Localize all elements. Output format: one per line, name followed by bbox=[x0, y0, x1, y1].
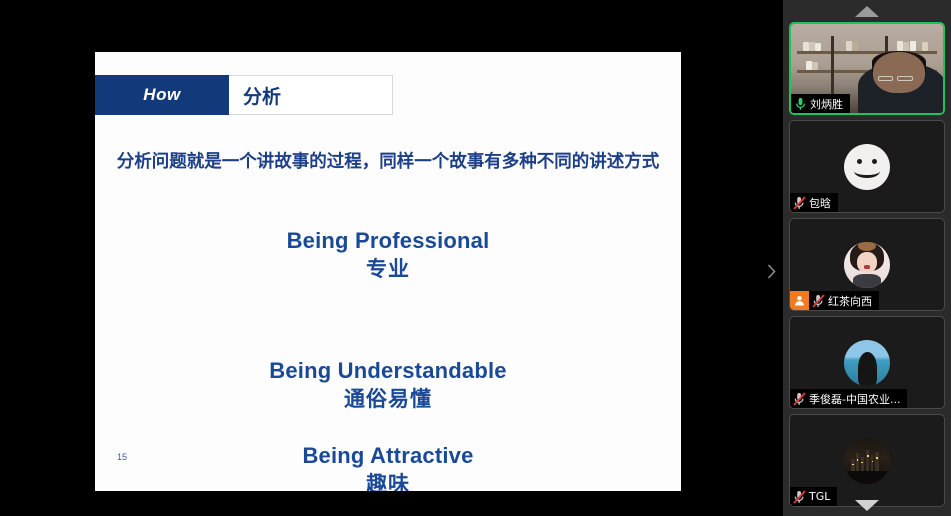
participant-sidebar: 刘炳胜 bbox=[783, 0, 951, 516]
slide-point-2-en: Being Understandable bbox=[95, 357, 681, 385]
participant-tile[interactable]: 季俊磊-中国农业... bbox=[789, 316, 945, 409]
participant-tile[interactable]: 红茶向西 bbox=[789, 218, 945, 311]
person-badge-icon bbox=[790, 291, 809, 310]
portrait-avatar-icon bbox=[844, 242, 890, 288]
microphone-muted-icon bbox=[809, 291, 827, 310]
slide-header-tab-label: How bbox=[143, 85, 180, 105]
slide-point-3-cn: 趣味 bbox=[95, 470, 681, 491]
slide-header: How 分析 bbox=[95, 75, 393, 115]
participant-name: 包晗 bbox=[808, 195, 838, 211]
slide-point-3-en: Being Attractive bbox=[95, 442, 681, 470]
slide-header-tab-how: How bbox=[95, 75, 229, 115]
presentation-slide: How 分析 分析问题就是一个讲故事的过程，同样一个故事有多种不同的讲述方式 B… bbox=[95, 52, 681, 491]
cityscape-avatar-icon bbox=[844, 438, 890, 484]
slide-point-2-cn: 通俗易懂 bbox=[95, 385, 681, 414]
slide-point-1-cn: 专业 bbox=[95, 255, 681, 284]
participant-name: 红茶向西 bbox=[827, 293, 879, 309]
microphone-muted-icon bbox=[790, 193, 808, 212]
slide-point-2: Being Understandable 通俗易懂 bbox=[95, 357, 681, 414]
slide-header-title-box: 分析 bbox=[229, 75, 393, 115]
microphone-muted-icon bbox=[790, 389, 808, 408]
slide-point-3: Being Attractive 趣味 bbox=[95, 442, 681, 491]
triangle-down-icon[interactable] bbox=[783, 494, 951, 516]
slide-lead-paragraph: 分析问题就是一个讲故事的过程，同样一个故事有多种不同的讲述方式 bbox=[115, 149, 661, 175]
participant-tile-list: 刘炳胜 bbox=[783, 22, 951, 512]
microphone-icon bbox=[791, 94, 809, 113]
slide-page-number: 15 bbox=[117, 452, 127, 462]
slide-point-1-en: Being Professional bbox=[95, 227, 681, 255]
zoom-meeting-window: How 分析 分析问题就是一个讲故事的过程，同样一个故事有多种不同的讲述方式 B… bbox=[0, 0, 951, 516]
participant-tile[interactable]: 包晗 bbox=[789, 120, 945, 213]
sea-silhouette-avatar-icon bbox=[844, 340, 890, 386]
shared-screen-stage: How 分析 分析问题就是一个讲故事的过程，同样一个故事有多种不同的讲述方式 B… bbox=[0, 0, 783, 516]
slide-point-1: Being Professional 专业 bbox=[95, 227, 681, 284]
triangle-up-icon[interactable] bbox=[783, 0, 951, 22]
participant-namebar: 季俊磊-中国农业... bbox=[790, 389, 907, 408]
slide-title: 分析 bbox=[243, 82, 281, 109]
chevron-right-icon[interactable] bbox=[762, 258, 780, 284]
smiley-avatar-icon bbox=[844, 144, 890, 190]
participant-namebar: 包晗 bbox=[790, 193, 838, 212]
participant-tile[interactable]: 刘炳胜 bbox=[789, 22, 945, 115]
participant-name: 刘炳胜 bbox=[809, 96, 850, 112]
participant-namebar: 红茶向西 bbox=[790, 291, 879, 310]
participant-namebar: 刘炳胜 bbox=[791, 94, 850, 113]
participant-name: 季俊磊-中国农业... bbox=[808, 391, 907, 407]
